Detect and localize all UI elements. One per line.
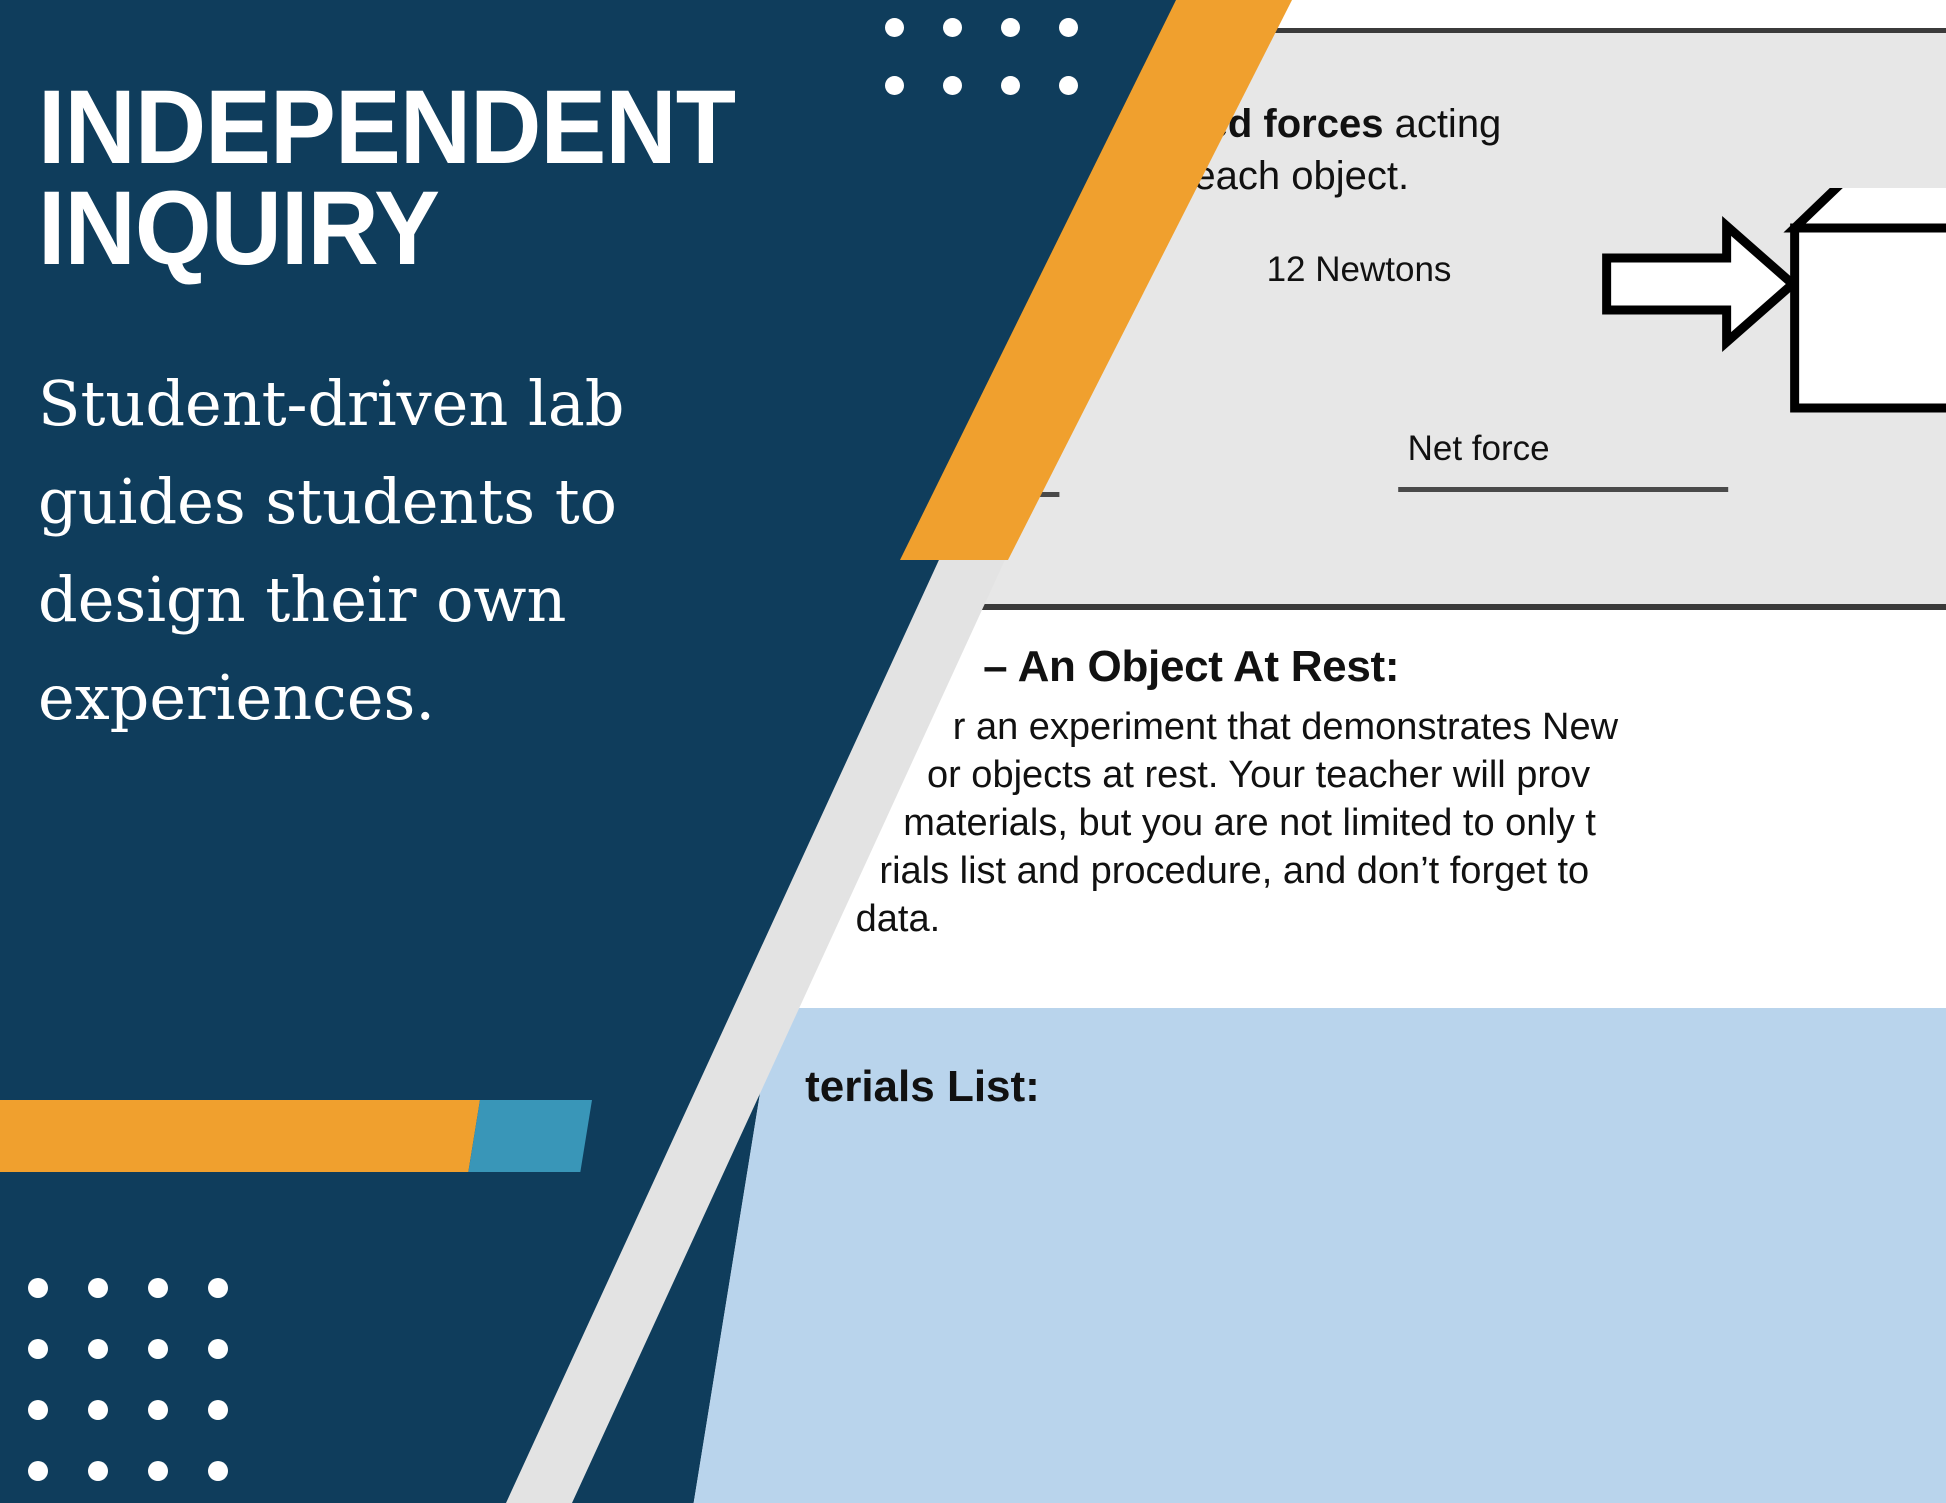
dot — [88, 1461, 108, 1481]
worksheet-paragraph-line-2: or objects at rest. Your teacher will pr… — [927, 754, 1590, 797]
dot — [28, 1461, 48, 1481]
worksheet-answer-rule-long — [1398, 487, 1728, 492]
worksheet-label-net-force: Net force — [1408, 429, 1550, 469]
worksheet-heading-materials-list: terials List: — [805, 1062, 1040, 1112]
page-title-line-2: INQUIRY — [38, 179, 752, 280]
dot — [28, 1339, 48, 1359]
dot — [148, 1278, 168, 1298]
dot — [1059, 18, 1078, 37]
dot — [28, 1400, 48, 1420]
dot — [88, 1400, 108, 1420]
page-subtitle: Student-driven lab guides students to de… — [38, 355, 768, 747]
accent-bar-orange — [0, 1100, 480, 1172]
dot-grid-bottom-left — [28, 1278, 268, 1503]
dot — [1001, 18, 1020, 37]
page-title: INDEPENDENT INQUIRY — [38, 78, 752, 280]
page-title-line-1: INDEPENDENT — [38, 78, 752, 179]
dot — [148, 1461, 168, 1481]
worksheet-paragraph-line-5: data. — [856, 898, 941, 941]
dot — [943, 76, 962, 95]
force-arrow-icon — [1607, 226, 1793, 342]
dot — [28, 1278, 48, 1298]
force-diagram — [1597, 188, 1946, 453]
worksheet-gray-line1-rest: acting — [1383, 102, 1501, 146]
accent-bar-teal — [468, 1100, 592, 1172]
box-top-face — [1795, 188, 1946, 228]
dot — [885, 18, 904, 37]
dot — [943, 18, 962, 37]
dot — [208, 1400, 228, 1420]
worksheet-paragraph-line-3: materials, but you are not limited to on… — [903, 802, 1596, 845]
worksheet-heading-object-at-rest: – An Object At Rest: — [983, 642, 1399, 692]
force-diagram-svg — [1597, 188, 1946, 448]
dot — [208, 1278, 228, 1298]
dot — [208, 1461, 228, 1481]
worksheet-paragraph-line-4: rials list and procedure, and don’t forg… — [879, 850, 1589, 893]
dot — [208, 1339, 228, 1359]
worksheet-paragraph-line-1: r an experiment that demonstrates New — [953, 706, 1618, 749]
dot — [88, 1278, 108, 1298]
slide-canvas: lanced forces acting ng on each object. … — [0, 0, 1946, 1503]
dot — [1059, 76, 1078, 95]
dot — [1001, 76, 1020, 95]
dot — [148, 1339, 168, 1359]
dot — [88, 1339, 108, 1359]
dot-grid-top-right — [885, 18, 1117, 134]
worksheet-label-12-newtons: 12 Newtons — [1267, 250, 1452, 290]
dot — [148, 1400, 168, 1420]
dot — [885, 76, 904, 95]
box-front-face — [1795, 228, 1946, 408]
